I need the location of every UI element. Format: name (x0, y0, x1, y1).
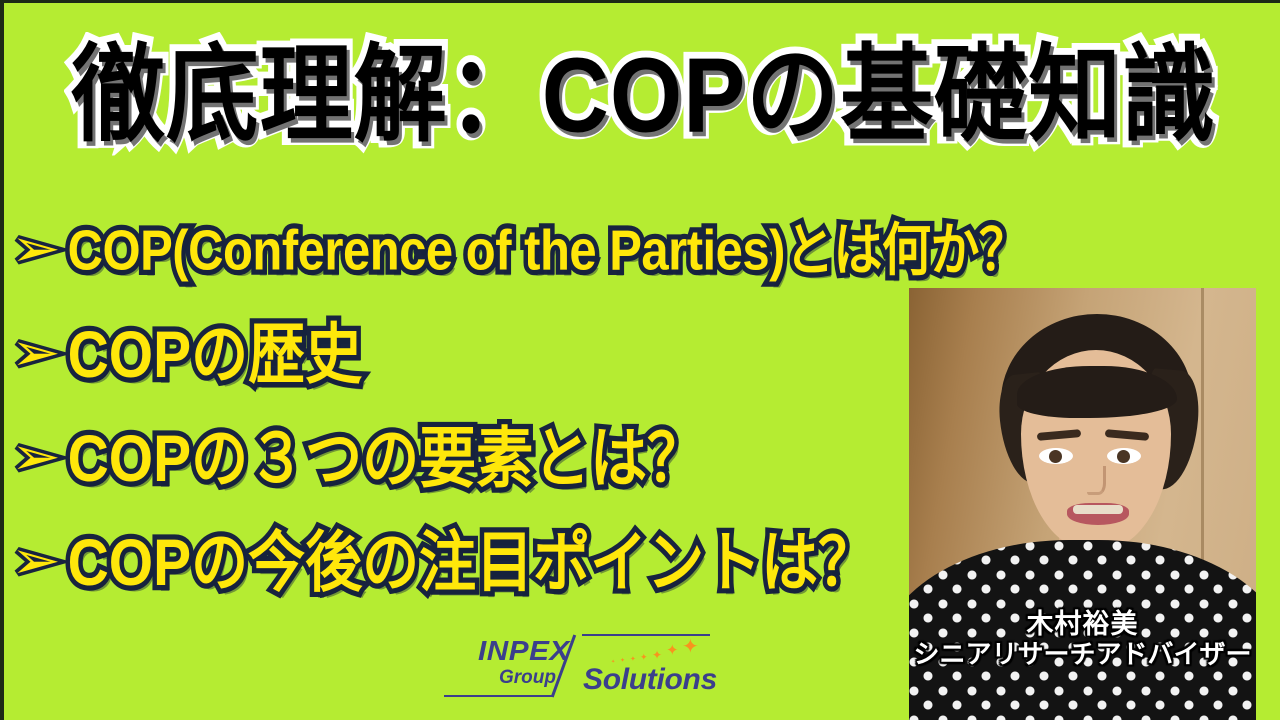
topic-list: ➢ COP(Conference of the Parties)とは何か？ ➢ … (14, 199, 914, 615)
logo-rule-bottom (444, 695, 554, 697)
logo-brand-subtext: Group (442, 668, 556, 687)
arrow-bullet-icon: ➢ (11, 223, 61, 275)
speaker-nose (1087, 466, 1106, 495)
video-thumbnail: 徹底理解：COPの基礎知識 ➢ COP(Conference of the Pa… (0, 0, 1280, 720)
list-item-label: COP(Conference of the Parties)とは何か？ (68, 223, 1028, 280)
speaker-teeth (1073, 505, 1123, 514)
sparkle-icon: ✦ (682, 637, 699, 657)
list-item-label: COPの今後の注目ポイントは？ (68, 530, 876, 596)
speaker-fringe (1017, 366, 1177, 418)
speaker-photo: 木村裕美 シニアリサーチアドバイザー (909, 288, 1256, 720)
list-item: ➢ COPの今後の注目ポイントは？ (14, 511, 914, 615)
inpex-group-solutions-logo: INPEX Group ✦ ✦ ✦ ✦ ✦ ✦ ✦ Solutions (436, 637, 706, 697)
list-item-label: COPの３つの要素とは？ (68, 426, 705, 492)
list-item-label: COPの歴史 (68, 322, 363, 388)
speaker-mouth (1067, 503, 1129, 525)
list-item: ➢ COPの歴史 (14, 303, 914, 407)
speaker-role: シニアリサーチアドバイザー (909, 641, 1256, 669)
arrow-bullet-icon: ➢ (11, 535, 61, 587)
sparkle-icon: ✦ (652, 649, 662, 661)
speaker-eye-right (1107, 448, 1141, 464)
speaker-eye-left (1039, 448, 1073, 464)
sparkle-icon: ✦ (630, 656, 636, 663)
list-item: ➢ COP(Conference of the Parties)とは何か？ (14, 199, 914, 303)
speaker-caption: 木村裕美 シニアリサーチアドバイザー (909, 610, 1256, 668)
list-item: ➢ COPの３つの要素とは？ (14, 407, 914, 511)
logo-brand-text: INPEX (438, 637, 569, 665)
logo-product-text: Solutions (583, 665, 717, 695)
page-title: 徹底理解：COPの基礎知識 (72, 42, 1217, 148)
logo-brand-block: INPEX Group (442, 637, 566, 687)
arrow-bullet-icon: ➢ (11, 431, 61, 483)
title-banner: 徹底理解：COPの基礎知識 (4, 29, 1280, 161)
sparkle-icon: ✦ (640, 653, 648, 662)
speaker-name: 木村裕美 (909, 610, 1256, 639)
arrow-bullet-icon: ➢ (11, 327, 61, 379)
sparkle-icon: ✦ (666, 643, 679, 658)
